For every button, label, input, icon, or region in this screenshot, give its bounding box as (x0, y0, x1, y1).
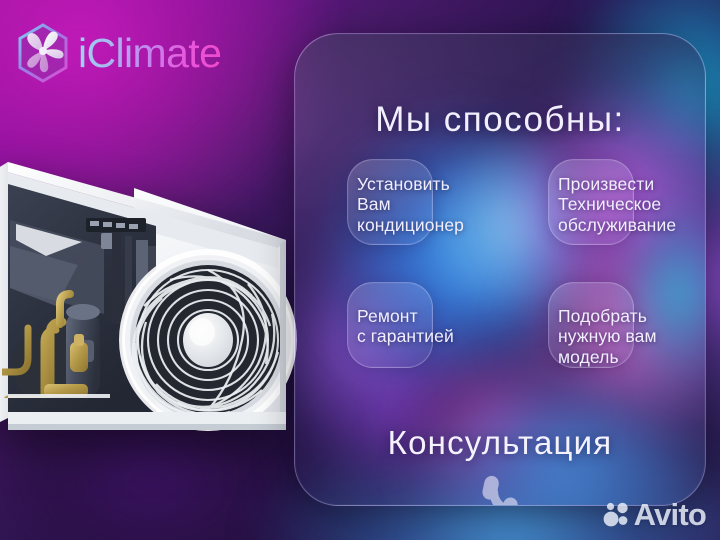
panel-footline: Консультация (295, 424, 705, 462)
brand-name: iClimate (78, 33, 225, 74)
avito-dots-icon (603, 502, 629, 528)
promo-banner: Мы способны: Установить Вам кондиционер … (0, 0, 720, 540)
hexagon-fan-icon (14, 22, 72, 84)
service-label-maintenance: Произвести Техническое обслуживание (558, 174, 676, 235)
air-conditioner-photo (0, 128, 306, 438)
avito-watermark: Avito (603, 499, 706, 530)
service-label-select-model: Подобрать нужную вам модель (558, 306, 657, 367)
brand-logo[interactable]: iClimate (14, 22, 225, 84)
services-panel: Мы способны: Установить Вам кондиционер … (294, 33, 706, 506)
panel-headline: Мы способны: (295, 100, 705, 140)
service-label-repair: Ремонт с гарантией (357, 306, 454, 347)
service-label-install: Установить Вам кондиционер (357, 174, 464, 235)
avito-wordmark: Avito (634, 499, 706, 530)
panel-content: Мы способны: Установить Вам кондиционер … (295, 34, 705, 505)
phone-handset-icon (477, 474, 523, 506)
air-conditioner-illustration (0, 128, 306, 438)
